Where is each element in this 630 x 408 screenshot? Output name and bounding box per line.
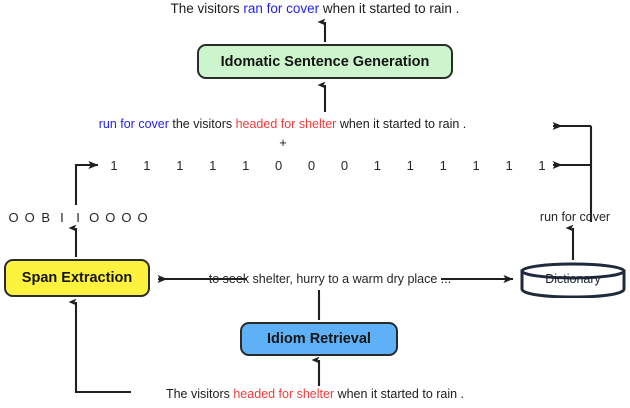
source-sentence-pre: The visitors [166,387,233,401]
node-generation-label: Idomatic Sentence Generation [221,54,430,70]
output-sentence-idiom: ran for cover [243,1,319,16]
bio-tag-cell: I [56,210,67,225]
bit-cell: 1 [108,158,120,173]
bio-tag-cell: O [121,210,132,225]
source-sentence-literal: headed for shelter [233,387,334,401]
node-span-extraction-label: Span Extraction [22,270,132,286]
output-sentence: The visitors ran for cover when it start… [0,2,630,17]
bit-cell: 1 [404,158,416,173]
output-sentence-pre: The visitors [171,1,244,16]
bio-tag-cell: O [137,210,148,225]
node-dictionary-label: Dictionary [519,272,627,286]
fused-sentence-idiom: run for cover [99,117,169,131]
bit-cell: 0 [306,158,318,173]
output-sentence-post: when it started to rain . [319,1,459,16]
bit-cell: 1 [437,158,449,173]
bit-cell: 1 [174,158,186,173]
fused-input-sentence: run for cover the visitors headed for sh… [0,118,565,132]
node-idiom-retrieval[interactable]: Idiom Retrieval [240,322,398,356]
dictionary-definition-text: to seek shelter, hurry to a warm dry pla… [180,272,480,286]
bio-tag-row: O O B I I O O O O [8,210,148,225]
bit-cell: 0 [338,158,350,173]
arrow-source-to-span [76,302,131,392]
node-idiomatic-sentence-generation[interactable]: Idomatic Sentence Generation [197,44,453,79]
bio-tag-cell: O [8,210,19,225]
node-dictionary[interactable]: Dictionary [519,262,627,298]
bio-tag-cell: I [73,210,84,225]
source-sentence-post: when it started to rain . [334,387,464,401]
bit-cell: 1 [503,158,515,173]
bit-cell: 1 [240,158,252,173]
source-sentence: The visitors headed for shelter when it … [0,388,630,402]
bit-cell: 1 [470,158,482,173]
bio-tag-cell: B [40,210,51,225]
bit-cell: 1 [141,158,153,173]
fused-sentence-mid: the visitors [169,117,236,131]
fused-sentence-literal: headed for shelter [236,117,337,131]
bio-tag-cell: O [89,210,100,225]
plus-symbol: + [0,135,566,150]
node-idiom-retrieval-label: Idiom Retrieval [267,331,371,347]
fused-sentence-post: when it started to rain . [336,117,466,131]
retrieved-idiom-label: run for cover [520,210,630,224]
bit-cell: 0 [273,158,285,173]
arrow-tags-to-bits [76,165,98,205]
bit-cell: 1 [207,158,219,173]
bio-tag-cell: O [105,210,116,225]
bit-sequence-row: 1 1 1 1 1 0 0 0 1 1 1 1 1 1 [108,158,548,173]
bio-tag-cell: O [24,210,35,225]
bit-cell: 1 [371,158,383,173]
bit-cell: 1 [536,158,548,173]
node-span-extraction[interactable]: Span Extraction [4,259,150,297]
